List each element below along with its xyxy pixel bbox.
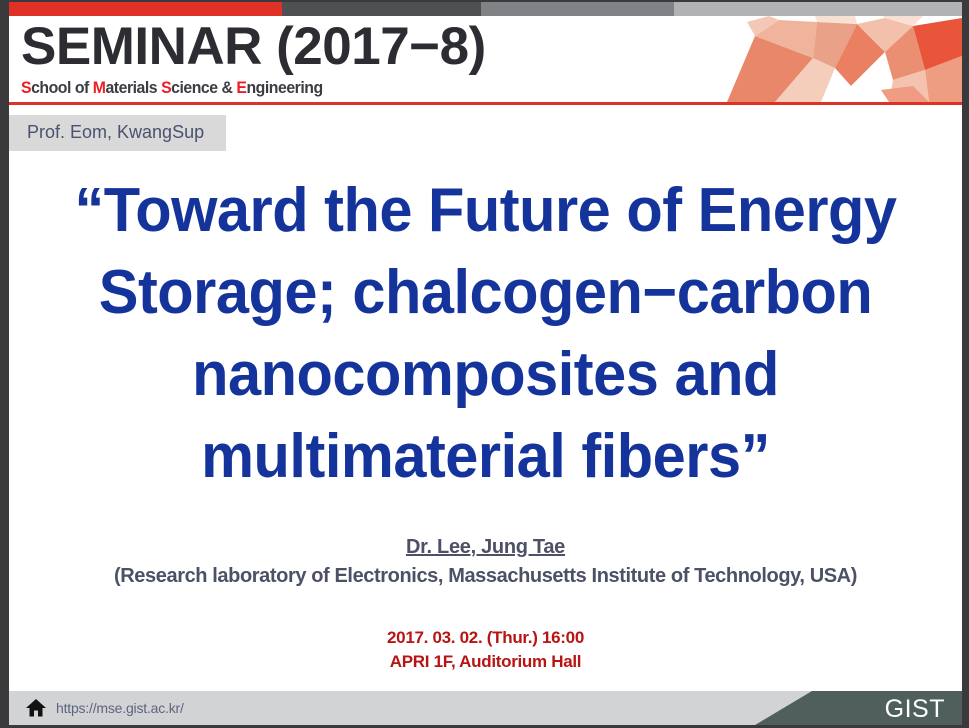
- polygon-decoration: [717, 16, 962, 102]
- seminar-subtitle: School of Materials Science & Engineerin…: [21, 78, 453, 97]
- top-bar-segment-light: [674, 2, 962, 16]
- home-icon: [25, 698, 47, 718]
- poster-header: SEMINAR (2017−8) School of Materials Sci…: [9, 16, 962, 102]
- gist-brand-label: GIST: [885, 692, 945, 725]
- presenter-name: Dr. Lee, Jung Tae: [27, 533, 944, 561]
- top-bar-segment-red: [9, 2, 282, 16]
- seminar-title: SEMINAR (2017−8): [21, 16, 486, 78]
- top-bar-segment-mid: [481, 2, 674, 16]
- seminar-main-title: “Toward the Future of Energy Storage; ch…: [45, 170, 925, 498]
- poster-footer: https://mse.gist.ac.kr/ GIST: [9, 691, 962, 725]
- schedule-datetime: 2017. 03. 02. (Thur.) 16:00: [27, 626, 944, 650]
- presenter-affiliation: (Research laboratory of Electronics, Mas…: [27, 561, 944, 591]
- header-title-group: SEMINAR (2017−8) School of Materials Sci…: [21, 16, 486, 97]
- host-name-tag: Prof. Eom, KwangSup: [9, 115, 226, 151]
- presenter-block: Dr. Lee, Jung Tae (Research laboratory o…: [27, 533, 944, 591]
- schedule-block: 2017. 03. 02. (Thur.) 16:00 APRI 1F, Aud…: [27, 626, 944, 674]
- seminar-poster: SEMINAR (2017−8) School of Materials Sci…: [0, 0, 969, 728]
- top-accent-bar: [9, 2, 962, 16]
- schedule-venue: APRI 1F, Auditorium Hall: [27, 650, 944, 674]
- top-bar-segment-dark: [282, 2, 481, 16]
- footer-link-group[interactable]: https://mse.gist.ac.kr/: [25, 691, 184, 725]
- footer-url-text[interactable]: https://mse.gist.ac.kr/: [56, 700, 184, 716]
- header-divider-rule: [9, 102, 962, 105]
